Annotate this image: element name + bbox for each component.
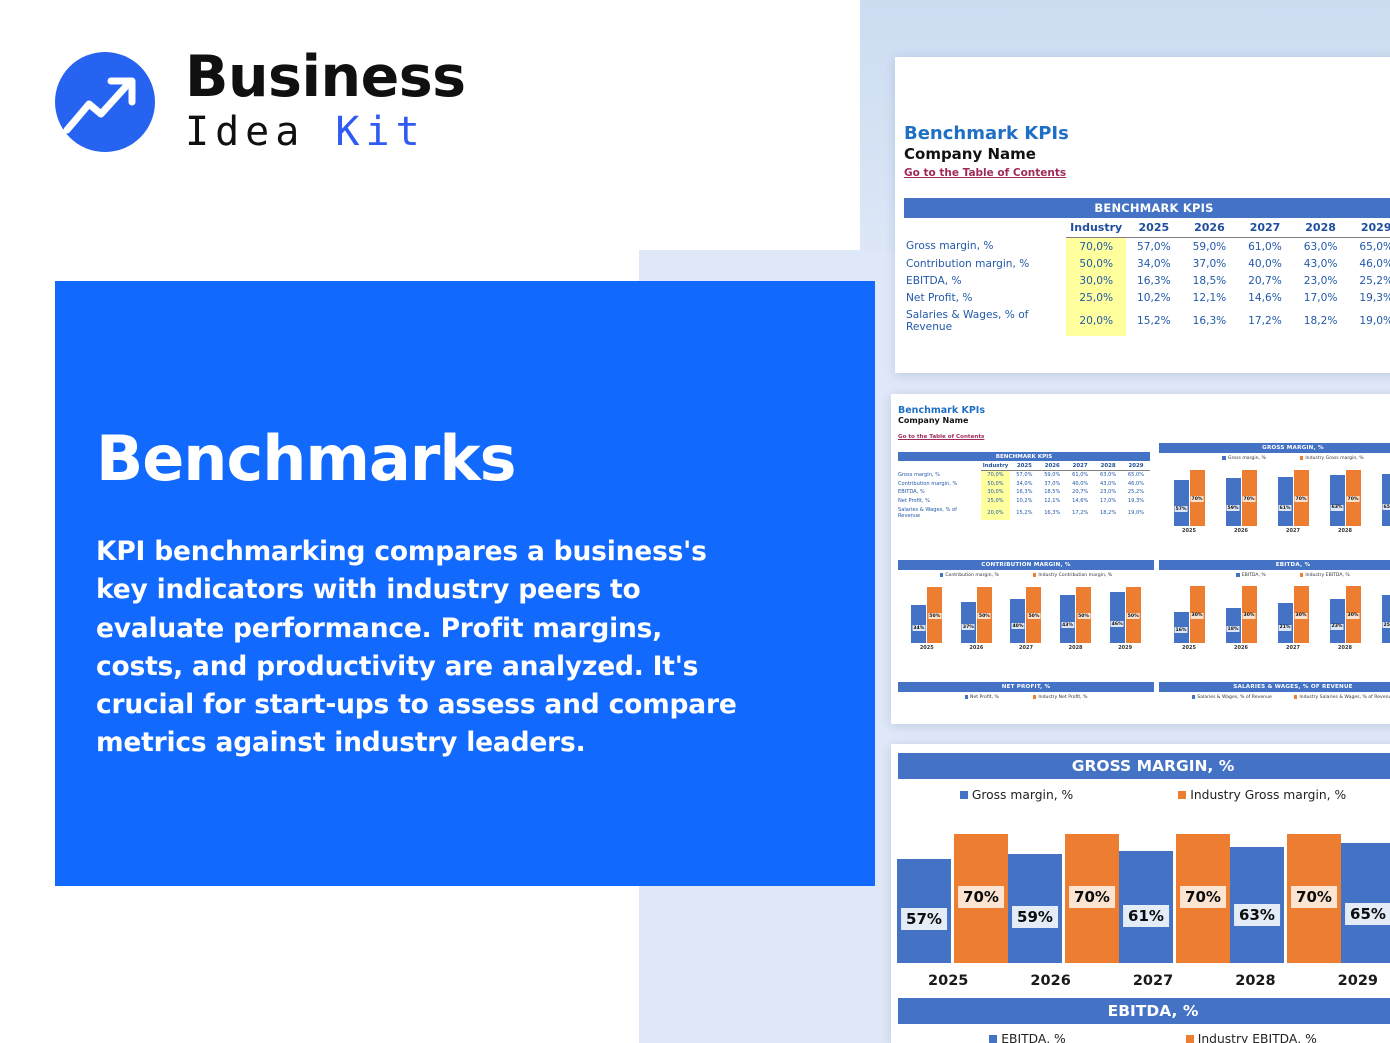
bar-group: 21%30% bbox=[1267, 581, 1319, 643]
x-tick-2027: 2027 bbox=[1102, 963, 1204, 989]
mini-chart-title: NET PROFIT, % bbox=[898, 682, 1154, 692]
mini-chart-plot: 57%70% 59%70% 61%70% 63%70% 65%70% 2025 … bbox=[1159, 464, 1390, 538]
bar-value: 16% bbox=[1175, 627, 1188, 633]
chart-legend-gross-margin: Gross margin, % Industry Gross margin, % bbox=[891, 779, 1390, 802]
x-tick: 2025 bbox=[902, 643, 952, 651]
x-tick-2029: 2029 bbox=[1307, 963, 1390, 989]
bar-value: 30% bbox=[1347, 613, 1360, 619]
bar-group-2027: 61% 70% bbox=[1119, 820, 1230, 963]
row-label: Contribution margin, % bbox=[904, 255, 1066, 272]
cell-2025: 57,0% bbox=[1010, 471, 1038, 480]
bar-group: 43%50% bbox=[1051, 581, 1101, 643]
bar-company: 61% bbox=[1119, 851, 1173, 963]
col-header-2025: 2025 bbox=[1010, 461, 1038, 471]
cell-2027: 40,0% bbox=[1066, 480, 1094, 489]
legend-label: Gross margin, % bbox=[972, 788, 1073, 802]
legend-label: Industry EBITDA, % bbox=[1198, 1032, 1317, 1043]
row-label: Net Profit, % bbox=[904, 290, 1066, 307]
cell-2027: 40,0% bbox=[1237, 255, 1293, 272]
table-of-contents-link-mini[interactable]: Go to the Table of Contents bbox=[898, 434, 984, 440]
bar-value: 57% bbox=[1175, 506, 1188, 512]
x-tick: 2029 bbox=[1371, 526, 1390, 534]
bar-group: 59%70% bbox=[1215, 464, 1267, 526]
bar-group-2025: 57% 70% bbox=[897, 820, 1008, 963]
brand-wordmark: Business Idea Kit bbox=[185, 47, 466, 155]
x-tick: 2026 bbox=[952, 643, 1002, 651]
bar-company: 59% bbox=[1008, 854, 1062, 963]
mini-chart-net-profit: NET PROFIT, % Net Profit, % Industry Net… bbox=[898, 682, 1154, 700]
col-header-2027: 2027 bbox=[1066, 461, 1094, 471]
legend-swatch-orange-icon bbox=[1300, 456, 1304, 460]
col-header-blank bbox=[898, 461, 981, 471]
cell-industry: 50,0% bbox=[981, 480, 1011, 489]
chart-plot-area: 57% 70% 59% 70% 61% 70% 63% 70% 65% 70 bbox=[891, 820, 1390, 989]
legend-swatch-orange-icon bbox=[1294, 695, 1298, 699]
bar-group: 46%50% bbox=[1100, 581, 1150, 643]
legend-label: Salaries & Wages, % of Revenue bbox=[1197, 695, 1272, 700]
legend-item-industry: Industry EBITDA, % bbox=[1300, 573, 1350, 578]
bar-value: 70% bbox=[1291, 886, 1337, 908]
bar-company: 65% bbox=[1341, 843, 1390, 963]
bar-value: 70% bbox=[1295, 496, 1308, 502]
mini-x-axis: 2025 2026 2027 2028 2029 bbox=[1159, 526, 1390, 534]
mini-chart-contribution-margin: CONTRIBUTION MARGIN, % Contribution marg… bbox=[898, 560, 1154, 655]
legend-label: EBITDA, % bbox=[1242, 573, 1266, 578]
bar-group-2028: 63% 70% bbox=[1230, 820, 1341, 963]
cell-2026: 18,5% bbox=[1182, 272, 1238, 289]
table-banner-label: BENCHMARK KPIS bbox=[898, 452, 1150, 461]
bar-value: 21% bbox=[1279, 625, 1292, 631]
cell-2029: 65,0% bbox=[1122, 471, 1150, 480]
mini-chart-legend: Contribution margin, % Industry Contribu… bbox=[898, 570, 1154, 578]
cell-2025: 15,2% bbox=[1010, 505, 1038, 520]
table-of-contents-link[interactable]: Go to the Table of Contents bbox=[904, 167, 1066, 179]
x-tick: 2028 bbox=[1319, 643, 1371, 651]
bar-value: 23% bbox=[1331, 624, 1344, 630]
cell-2025: 10,2% bbox=[1126, 290, 1182, 307]
legend-item-industry: Industry Gross margin, % bbox=[1300, 456, 1364, 461]
bar-value: 65% bbox=[1383, 504, 1390, 510]
bar-value: 57% bbox=[901, 908, 947, 930]
col-header-2028: 2028 bbox=[1094, 461, 1122, 471]
cell-industry: 30,0% bbox=[981, 488, 1011, 497]
legend-swatch-orange-icon bbox=[1186, 1035, 1194, 1043]
col-header-2026: 2026 bbox=[1182, 218, 1238, 238]
col-header-2028: 2028 bbox=[1293, 218, 1349, 238]
mini-chart-title: SALARIES & WAGES, % OF REVENUE bbox=[1159, 682, 1390, 692]
chart-card-gross-margin: GROSS MARGIN, % Gross margin, % Industry… bbox=[891, 744, 1390, 1043]
row-label: EBITDA, % bbox=[904, 272, 1066, 289]
sheet-subtitle-mini: Company Name bbox=[898, 416, 1390, 425]
row-label: Salaries & Wages, % of Revenue bbox=[904, 307, 1066, 336]
x-tick: 2029 bbox=[1100, 643, 1150, 651]
cell-2029: 46,0% bbox=[1122, 480, 1150, 489]
chart-title-ebitda: EBITDA, % bbox=[898, 998, 1390, 1024]
cell-industry: 70,0% bbox=[1066, 238, 1126, 256]
bar-value: 50% bbox=[928, 613, 941, 619]
brand-line-business: Business bbox=[185, 47, 466, 107]
bar-value: 70% bbox=[1191, 496, 1204, 502]
logo-chart-arrow-icon bbox=[55, 52, 155, 152]
bar-group: 65%70% bbox=[1371, 464, 1390, 526]
bar-value: 34% bbox=[912, 625, 925, 631]
legend-item-company: EBITDA, % bbox=[989, 1032, 1066, 1043]
cell-2027: 17,2% bbox=[1066, 505, 1094, 520]
x-tick-2026: 2026 bbox=[999, 963, 1101, 989]
brand-line-idea-kit: Idea Kit bbox=[185, 109, 466, 155]
cell-2025: 16,3% bbox=[1126, 272, 1182, 289]
legend-swatch-blue-icon bbox=[1222, 456, 1226, 460]
x-tick: 2027 bbox=[1267, 643, 1319, 651]
table-banner-label: BENCHMARK KPIS bbox=[904, 198, 1390, 218]
row-label: Salaries & Wages, % of Revenue bbox=[898, 505, 981, 520]
bar-groups: 57% 70% 59% 70% 61% 70% 63% 70% 65% 70 bbox=[897, 820, 1390, 963]
bar-value: 50% bbox=[1077, 613, 1090, 619]
cell-2026: 16,3% bbox=[1038, 505, 1066, 520]
legend-label: Industry Salaries & Wages, % of Revenue bbox=[1299, 695, 1390, 700]
col-header-2025: 2025 bbox=[1126, 218, 1182, 238]
legend-swatch-blue-icon bbox=[1192, 695, 1196, 699]
bar-value: 70% bbox=[1347, 496, 1360, 502]
table-row: Gross margin, % 70,0% 57,0% 59,0% 61,0% … bbox=[898, 471, 1150, 480]
bar-value: 43% bbox=[1061, 622, 1074, 628]
slide-root: Business Idea Kit Benchmarks KPI benchma… bbox=[0, 0, 1390, 1043]
cell-2029: 25,2% bbox=[1348, 272, 1390, 289]
legend-label: Industry Net Profit, % bbox=[1038, 695, 1087, 700]
cell-2025: 15,2% bbox=[1126, 307, 1182, 336]
cell-2029: 19,0% bbox=[1348, 307, 1390, 336]
mini-chart-legend: Salaries & Wages, % of Revenue Industry … bbox=[1159, 692, 1390, 700]
legend-label: Industry Gross margin, % bbox=[1190, 788, 1346, 802]
x-tick: 2027 bbox=[1267, 526, 1319, 534]
col-header-blank bbox=[904, 218, 1066, 238]
legend-label: Net Profit, % bbox=[970, 695, 999, 700]
bar-industry: 70% bbox=[954, 834, 1008, 963]
legend-swatch-orange-icon bbox=[1033, 573, 1037, 577]
mini-chart-plot: 34%50% 37%50% 40%50% 43%50% 46%50% 2025 … bbox=[898, 581, 1154, 655]
legend-label: Contribution margin, % bbox=[945, 573, 998, 578]
mini-chart-title: GROSS MARGIN, % bbox=[1159, 443, 1390, 453]
bar-value: 70% bbox=[1069, 886, 1115, 908]
legend-swatch-orange-icon bbox=[1178, 791, 1186, 799]
table-banner-row: BENCHMARK KPIS bbox=[898, 452, 1150, 461]
cell-2029: 46,0% bbox=[1348, 255, 1390, 272]
legend-item-company: Contribution margin, % bbox=[940, 573, 999, 578]
x-tick: 2028 bbox=[1319, 526, 1371, 534]
mini-x-axis: 2025 2026 2027 2028 2029 bbox=[1159, 643, 1390, 651]
bar-value: 61% bbox=[1279, 505, 1292, 511]
legend-swatch-blue-icon bbox=[989, 1035, 997, 1043]
row-label: EBITDA, % bbox=[898, 488, 981, 497]
bar-group: 25%30% bbox=[1371, 581, 1390, 643]
cell-industry: 20,0% bbox=[981, 505, 1011, 520]
cell-2026: 18,5% bbox=[1038, 488, 1066, 497]
chart-x-axis: 2025 2026 2027 2028 2029 bbox=[897, 963, 1390, 989]
x-tick: 2027 bbox=[1001, 643, 1051, 651]
spreadsheet-card-dashboard: Benchmark KPIs Company Name Go to the Ta… bbox=[891, 394, 1390, 724]
cell-2025: 57,0% bbox=[1126, 238, 1182, 256]
mini-x-axis: 2025 2026 2027 2028 2029 bbox=[898, 643, 1154, 651]
legend-item-industry: Industry Contribution margin, % bbox=[1033, 573, 1112, 578]
mini-chart-salaries-wages: SALARIES & WAGES, % OF REVENUE Salaries … bbox=[1159, 682, 1390, 700]
bar-value: 59% bbox=[1012, 906, 1058, 928]
bar-value: 70% bbox=[1243, 496, 1256, 502]
x-tick-2025: 2025 bbox=[897, 963, 999, 989]
bar-value: 30% bbox=[1243, 613, 1256, 619]
cell-2028: 23,0% bbox=[1094, 488, 1122, 497]
cell-industry: 50,0% bbox=[1066, 255, 1126, 272]
cell-2026: 12,1% bbox=[1038, 497, 1066, 506]
bar-industry: 70% bbox=[1176, 834, 1230, 963]
bar-industry: 70% bbox=[1065, 834, 1119, 963]
mini-bar-groups: 34%50% 37%50% 40%50% 43%50% 46%50% bbox=[898, 581, 1154, 643]
table-row: Net Profit, % 25,0% 10,2% 12,1% 14,6% 17… bbox=[904, 290, 1390, 307]
cell-2026: 16,3% bbox=[1182, 307, 1238, 336]
table-row: Salaries & Wages, % of Revenue 20,0% 15,… bbox=[904, 307, 1390, 336]
bar-value: 59% bbox=[1227, 505, 1240, 511]
x-tick: 2029 bbox=[1371, 643, 1390, 651]
row-label: Gross margin, % bbox=[898, 471, 981, 480]
brand-word-kit: Kit bbox=[335, 109, 425, 155]
col-header-2027: 2027 bbox=[1237, 218, 1293, 238]
legend-swatch-orange-icon bbox=[1300, 573, 1304, 577]
cell-2027: 61,0% bbox=[1066, 471, 1094, 480]
bar-value: 40% bbox=[1011, 623, 1024, 629]
legend-item-industry: Industry EBITDA, % bbox=[1186, 1032, 1317, 1043]
cell-2029: 65,0% bbox=[1348, 238, 1390, 256]
bar-value: 63% bbox=[1331, 505, 1344, 511]
table-header-row: Industry 2025 2026 2027 2028 2029 bbox=[898, 461, 1150, 471]
legend-swatch-blue-icon bbox=[965, 695, 969, 699]
cell-industry: 70,0% bbox=[981, 471, 1011, 480]
cell-2025: 10,2% bbox=[1010, 497, 1038, 506]
bar-value: 50% bbox=[1127, 613, 1140, 619]
mini-chart-title: CONTRIBUTION MARGIN, % bbox=[898, 560, 1154, 570]
bar-group: 61%70% bbox=[1267, 464, 1319, 526]
table-row: Gross margin, % 70,0% 57,0% 59,0% 61,0% … bbox=[904, 238, 1390, 256]
bar-group: 40%50% bbox=[1001, 581, 1051, 643]
legend-swatch-blue-icon bbox=[1236, 573, 1240, 577]
cell-2029: 19,3% bbox=[1348, 290, 1390, 307]
brand-logo: Business Idea Kit bbox=[55, 47, 455, 162]
bar-value: 50% bbox=[1027, 613, 1040, 619]
cell-2026: 59,0% bbox=[1182, 238, 1238, 256]
x-tick: 2028 bbox=[1051, 643, 1101, 651]
cell-2026: 37,0% bbox=[1182, 255, 1238, 272]
bar-company: 63% bbox=[1230, 847, 1284, 963]
legend-item-industry: Industry Net Profit, % bbox=[1033, 695, 1088, 700]
cell-2028: 43,0% bbox=[1293, 255, 1349, 272]
legend-label: Industry Gross margin, % bbox=[1305, 456, 1363, 461]
bar-group: 16%30% bbox=[1163, 581, 1215, 643]
cell-2027: 61,0% bbox=[1237, 238, 1293, 256]
legend-item-industry: Industry Salaries & Wages, % of Revenue bbox=[1294, 695, 1390, 700]
bar-value: 37% bbox=[962, 624, 975, 630]
bar-value: 25% bbox=[1383, 622, 1390, 628]
bar-group: 37%50% bbox=[952, 581, 1002, 643]
cell-2025: 34,0% bbox=[1126, 255, 1182, 272]
table-header-row: Industry 2025 2026 2027 2028 2029 bbox=[904, 218, 1390, 238]
bar-group: 18%30% bbox=[1215, 581, 1267, 643]
benchmark-kpis-table-mini: BENCHMARK KPIS Industry 2025 2026 2027 2… bbox=[898, 452, 1150, 520]
col-header-industry: Industry bbox=[981, 461, 1011, 471]
legend-swatch-blue-icon bbox=[960, 791, 968, 799]
table-row: Salaries & Wages, % of Revenue 20,0% 15,… bbox=[898, 505, 1150, 520]
cell-2028: 18,2% bbox=[1293, 307, 1349, 336]
cell-2027: 14,6% bbox=[1066, 497, 1094, 506]
mini-chart-plot: 16%30% 18%30% 21%30% 23%30% 25%30% 2025 … bbox=[1159, 581, 1390, 655]
cell-2027: 20,7% bbox=[1066, 488, 1094, 497]
cell-industry: 20,0% bbox=[1066, 307, 1126, 336]
x-tick-2028: 2028 bbox=[1204, 963, 1306, 989]
bar-group: 57%70% bbox=[1163, 464, 1215, 526]
col-header-2029: 2029 bbox=[1348, 218, 1390, 238]
legend-label: Industry Contribution margin, % bbox=[1038, 573, 1112, 578]
benchmark-kpis-table: BENCHMARK KPIS Industry 2025 2026 2027 2… bbox=[904, 198, 1390, 336]
mini-chart-title: EBITDA, % bbox=[1159, 560, 1390, 570]
mini-chart-legend: Gross margin, % Industry Gross margin, % bbox=[1159, 453, 1390, 461]
cell-2028: 43,0% bbox=[1094, 480, 1122, 489]
cell-2025: 16,3% bbox=[1010, 488, 1038, 497]
bar-value: 70% bbox=[958, 886, 1004, 908]
spreadsheet-card-top: Benchmark KPIs Company Name Go to the Ta… bbox=[895, 57, 1390, 373]
col-header-industry: Industry bbox=[1066, 218, 1126, 238]
x-tick: 2025 bbox=[1163, 526, 1215, 534]
table-row: EBITDA, % 30,0% 16,3% 18,5% 20,7% 23,0% … bbox=[898, 488, 1150, 497]
cell-2026: 59,0% bbox=[1038, 471, 1066, 480]
brand-word-idea: Idea bbox=[185, 109, 305, 155]
bar-group-2029: 65% 70% bbox=[1341, 820, 1390, 963]
sheet-subtitle: Company Name bbox=[904, 145, 1390, 163]
cell-industry: 30,0% bbox=[1066, 272, 1126, 289]
cell-2028: 63,0% bbox=[1293, 238, 1349, 256]
cell-2029: 19,3% bbox=[1122, 497, 1150, 506]
cell-2026: 37,0% bbox=[1038, 480, 1066, 489]
mini-chart-gross-margin: GROSS MARGIN, % Gross margin, % Industry… bbox=[1159, 443, 1390, 538]
cell-2026: 12,1% bbox=[1182, 290, 1238, 307]
legend-item-industry: Industry Gross margin, % bbox=[1178, 788, 1346, 802]
bar-group: 63%70% bbox=[1319, 464, 1371, 526]
sheet-title-mini: Benchmark KPIs bbox=[898, 405, 1390, 416]
page-title: Benchmarks bbox=[96, 424, 516, 494]
mini-bar-groups: 16%30% 18%30% 21%30% 23%30% 25%30% bbox=[1159, 581, 1390, 643]
legend-swatch-blue-icon bbox=[940, 573, 944, 577]
mini-chart-ebitda: EBITDA, % EBITDA, % Industry EBITDA, % 1… bbox=[1159, 560, 1390, 655]
row-label: Gross margin, % bbox=[904, 238, 1066, 256]
cell-2025: 34,0% bbox=[1010, 480, 1038, 489]
bar-value: 50% bbox=[978, 613, 991, 619]
legend-label: Industry EBITDA, % bbox=[1305, 573, 1349, 578]
legend-item-company: Net Profit, % bbox=[965, 695, 999, 700]
x-tick: 2025 bbox=[1163, 643, 1215, 651]
cell-industry: 25,0% bbox=[1066, 290, 1126, 307]
cell-2027: 17,2% bbox=[1237, 307, 1293, 336]
legend-label: Gross margin, % bbox=[1228, 456, 1266, 461]
bar-value: 70% bbox=[1180, 886, 1226, 908]
legend-swatch-orange-icon bbox=[1033, 695, 1037, 699]
bar-value: 18% bbox=[1227, 626, 1240, 632]
legend-item-company: EBITDA, % bbox=[1236, 573, 1266, 578]
row-label: Contribution margin, % bbox=[898, 480, 981, 489]
legend-item-company: Salaries & Wages, % of Revenue bbox=[1192, 695, 1272, 700]
cell-2028: 17,0% bbox=[1094, 497, 1122, 506]
table-row: Contribution margin, % 50,0% 34,0% 37,0%… bbox=[904, 255, 1390, 272]
col-header-2026: 2026 bbox=[1038, 461, 1066, 471]
cell-2028: 63,0% bbox=[1094, 471, 1122, 480]
bar-group: 34%50% bbox=[902, 581, 952, 643]
bar-value: 63% bbox=[1234, 904, 1280, 926]
cell-2028: 18,2% bbox=[1094, 505, 1122, 520]
sheet-title: Benchmark KPIs bbox=[904, 123, 1390, 144]
row-label: Net Profit, % bbox=[898, 497, 981, 506]
x-tick: 2026 bbox=[1215, 643, 1267, 651]
bar-value: 30% bbox=[1295, 613, 1308, 619]
bar-value: 30% bbox=[1191, 613, 1204, 619]
table-row: EBITDA, % 30,0% 16,3% 18,5% 20,7% 23,0% … bbox=[904, 272, 1390, 289]
cell-2029: 19,0% bbox=[1122, 505, 1150, 520]
table-row: Net Profit, % 25,0% 10,2% 12,1% 14,6% 17… bbox=[898, 497, 1150, 506]
table-banner-row: BENCHMARK KPIS bbox=[904, 198, 1390, 218]
cell-2028: 23,0% bbox=[1293, 272, 1349, 289]
page-description: KPI benchmarking compares a business's k… bbox=[96, 533, 756, 763]
cell-2029: 25,2% bbox=[1122, 488, 1150, 497]
legend-item-company: Gross margin, % bbox=[960, 788, 1073, 802]
bar-group-2026: 59% 70% bbox=[1008, 820, 1119, 963]
cell-2028: 17,0% bbox=[1293, 290, 1349, 307]
chart-legend-ebitda: EBITDA, % Industry EBITDA, % bbox=[891, 1024, 1390, 1043]
mini-bar-groups: 57%70% 59%70% 61%70% 63%70% 65%70% bbox=[1159, 464, 1390, 526]
legend-item-company: Gross margin, % bbox=[1222, 456, 1265, 461]
bar-value: 61% bbox=[1123, 905, 1169, 927]
col-header-2029: 2029 bbox=[1122, 461, 1150, 471]
bar-industry: 70% bbox=[1287, 834, 1341, 963]
mini-chart-legend: Net Profit, % Industry Net Profit, % bbox=[898, 692, 1154, 700]
cell-2027: 20,7% bbox=[1237, 272, 1293, 289]
legend-label: EBITDA, % bbox=[1001, 1032, 1066, 1043]
table-row: Contribution margin, % 50,0% 34,0% 37,0%… bbox=[898, 480, 1150, 489]
chart-title-gross-margin: GROSS MARGIN, % bbox=[898, 753, 1390, 779]
bar-group: 23%30% bbox=[1319, 581, 1371, 643]
mini-chart-legend: EBITDA, % Industry EBITDA, % bbox=[1159, 570, 1390, 578]
cell-2027: 14,6% bbox=[1237, 290, 1293, 307]
bar-value: 65% bbox=[1345, 903, 1390, 925]
bar-company: 57% bbox=[897, 859, 951, 963]
bar-value: 46% bbox=[1111, 621, 1124, 627]
cell-industry: 25,0% bbox=[981, 497, 1011, 506]
x-tick: 2026 bbox=[1215, 526, 1267, 534]
